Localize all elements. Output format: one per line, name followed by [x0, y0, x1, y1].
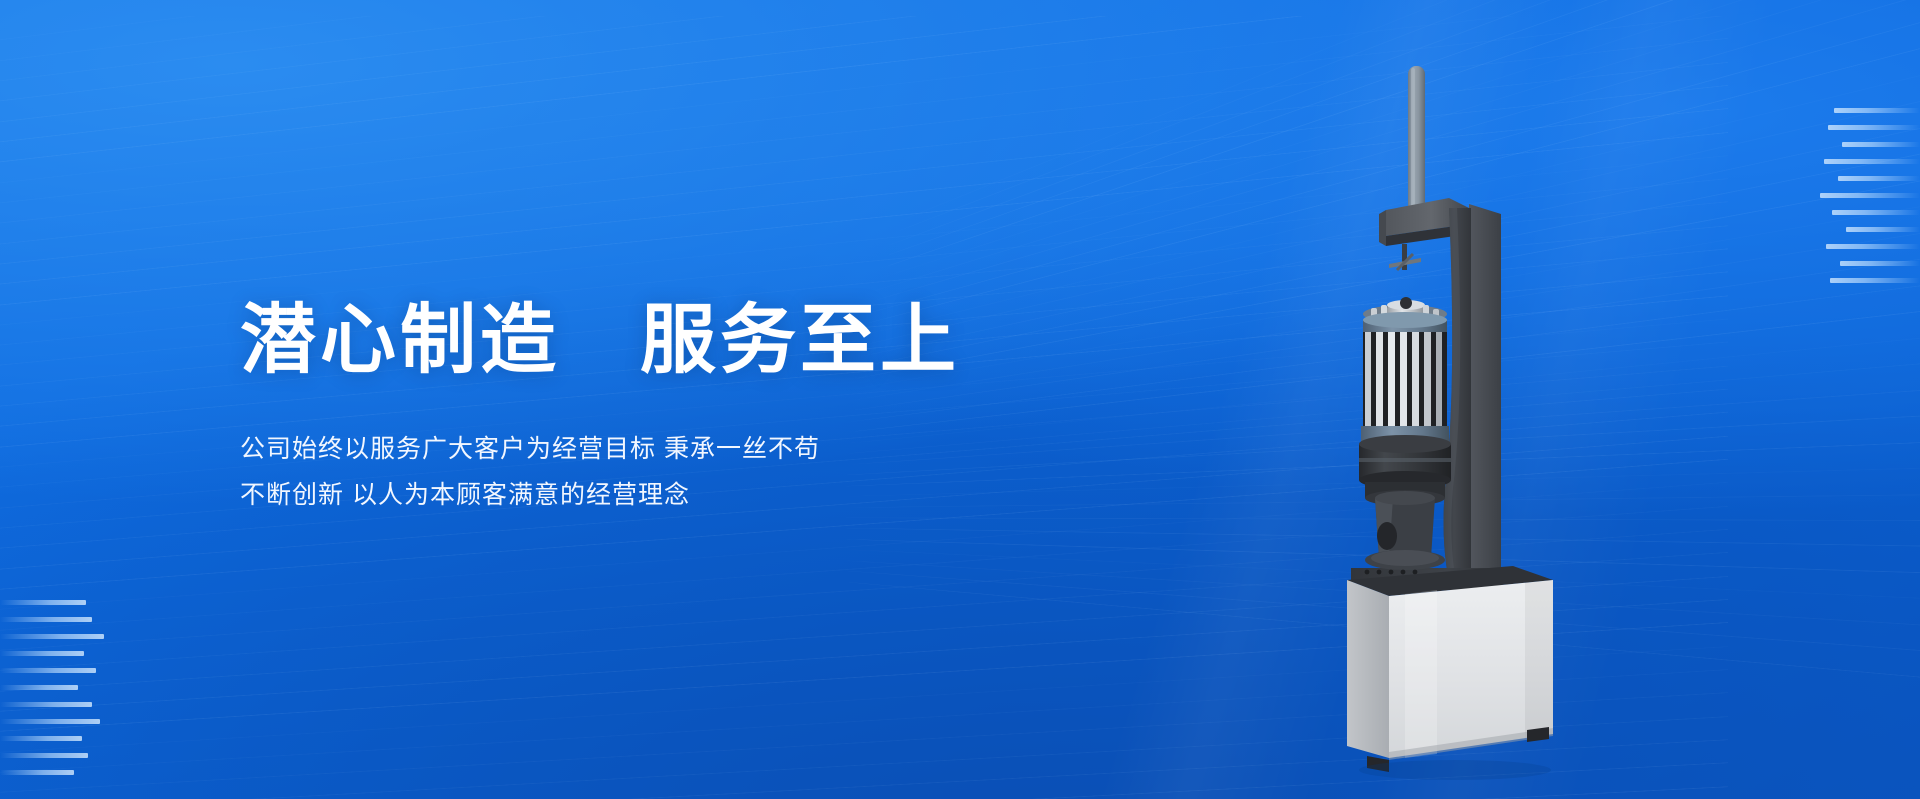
cylindrical-mixing-head: [1361, 297, 1449, 452]
banner-copy: 潜心制造 服务至上 公司始终以服务广大客户为经营目标 秉承一丝不苟 不断创新 以…: [240, 300, 1100, 519]
decor-tick: [1842, 142, 1920, 147]
decor-tick: [1838, 176, 1920, 181]
decor-tick: [1830, 278, 1920, 283]
decor-tick: [1820, 193, 1920, 198]
decor-ticks-left: [0, 600, 104, 775]
decor-tick: [0, 600, 86, 605]
decor-ticks-right: [1820, 108, 1920, 283]
decor-tick: [0, 617, 92, 622]
banner-subcopy-line-1: 公司始终以服务广大客户为经营目标 秉承一丝不苟: [240, 426, 1100, 472]
impeller-blade: [1389, 244, 1421, 270]
decor-tick: [0, 634, 104, 639]
decor-tick: [0, 685, 78, 690]
product-image-industrial-mixer: [1345, 58, 1625, 788]
decor-tick: [0, 753, 88, 758]
motor-housing: [1359, 435, 1451, 558]
decor-tick: [1832, 210, 1920, 215]
decor-tick: [1826, 244, 1920, 249]
decor-tick: [0, 770, 74, 775]
hero-banner: 潜心制造 服务至上 公司始终以服务广大客户为经营目标 秉承一丝不苟 不断创新 以…: [0, 0, 1920, 799]
decor-tick: [1840, 261, 1920, 266]
column-support: [1444, 204, 1506, 624]
decor-tick: [1846, 227, 1920, 232]
banner-subcopy-line-2: 不断创新 以人为本顾客满意的经营理念: [240, 472, 1100, 518]
decor-tick: [0, 719, 100, 724]
decor-tick: [0, 702, 92, 707]
decor-tick: [1824, 159, 1920, 164]
decor-tick: [1828, 125, 1920, 130]
decor-tick: [0, 668, 96, 673]
equipment-cabinet: [1347, 566, 1553, 760]
banner-headline: 潜心制造 服务至上: [240, 300, 1100, 382]
barrel-flutes: [1365, 332, 1442, 428]
banner-subcopy: 公司始终以服务广大客户为经营目标 秉承一丝不苟 不断创新 以人为本顾客满意的经营…: [240, 426, 1100, 519]
decor-tick: [0, 736, 82, 741]
vertical-shaft: [1408, 66, 1425, 216]
decor-tick: [1834, 108, 1920, 113]
decor-tick: [0, 651, 84, 656]
